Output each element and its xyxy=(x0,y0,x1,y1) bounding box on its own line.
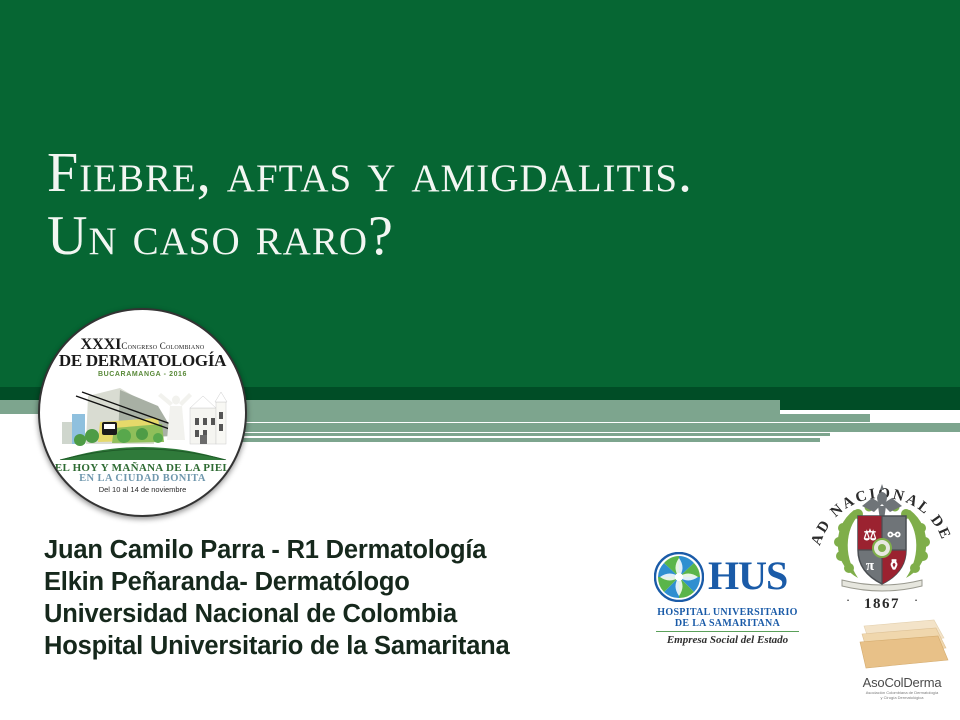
unal-seal: UNIVERSIDAD NACIONAL DE COLOMBIA xyxy=(806,462,958,614)
hus-line-3: Empresa Social del Estado xyxy=(650,634,805,646)
congress-logo-tagline: EL HOY Y MAÑANA DE LA PIEL EN LA CIUDAD … xyxy=(40,462,245,494)
svg-text:·: · xyxy=(846,592,850,607)
congress-logo-heading: XXXICongreso Colombiano DE DERMATOLOGÍA … xyxy=(40,336,245,378)
congress-dates: Del 10 al 14 de noviembre xyxy=(40,485,245,494)
hus-acronym: HUS xyxy=(708,548,787,604)
asocolderma-logo: AsoColDerma Asociación Colombiana de Der… xyxy=(848,612,956,716)
svg-text:·: · xyxy=(914,592,918,607)
divider-cutout-a xyxy=(870,414,960,422)
svg-text:⚱: ⚱ xyxy=(888,558,901,574)
svg-text:π: π xyxy=(866,558,875,574)
congress-line3: BUCARAMANGA - 2016 xyxy=(40,371,245,378)
banner-dark-strip-right xyxy=(780,387,960,410)
divider-bar-3 xyxy=(130,423,960,432)
asocolderma-name: AsoColDerma xyxy=(848,675,956,690)
congress-line1: Congreso Colombiano xyxy=(121,341,204,351)
asocolderma-subtitle: Asociación Colombiana de Dermatología y … xyxy=(848,690,956,701)
divider-cutout-b xyxy=(830,432,960,434)
congress-line2: DE DERMATOLOGÍA xyxy=(40,351,245,371)
asocolderma-skin-layers-icon xyxy=(848,612,956,674)
hus-pinwheel-icon xyxy=(654,552,704,602)
hus-line-2: DE LA SAMARITANA xyxy=(650,618,805,629)
congress-logo: XXXICongreso Colombiano DE DERMATOLOGÍA … xyxy=(38,308,247,517)
divider-cutout-c xyxy=(820,437,960,438)
svg-text:1867: 1867 xyxy=(864,596,900,612)
congress-illustration xyxy=(58,388,228,460)
hus-logo: HUS HOSPITAL UNIVERSITARIO DE LA SAMARIT… xyxy=(650,548,805,656)
hus-divider xyxy=(656,631,799,632)
presentation-slide: Fiebre, aftas y amigdalitis. Un caso rar… xyxy=(0,0,960,720)
author-credits: Juan Camilo Parra - R1 Dermatología Elki… xyxy=(44,534,664,663)
congress-tagline-2: EN LA CIUDAD BONITA xyxy=(40,473,245,484)
page-title: Fiebre, aftas y amigdalitis. Un caso rar… xyxy=(47,142,927,267)
hus-line-1: HOSPITAL UNIVERSITARIO xyxy=(650,607,805,618)
